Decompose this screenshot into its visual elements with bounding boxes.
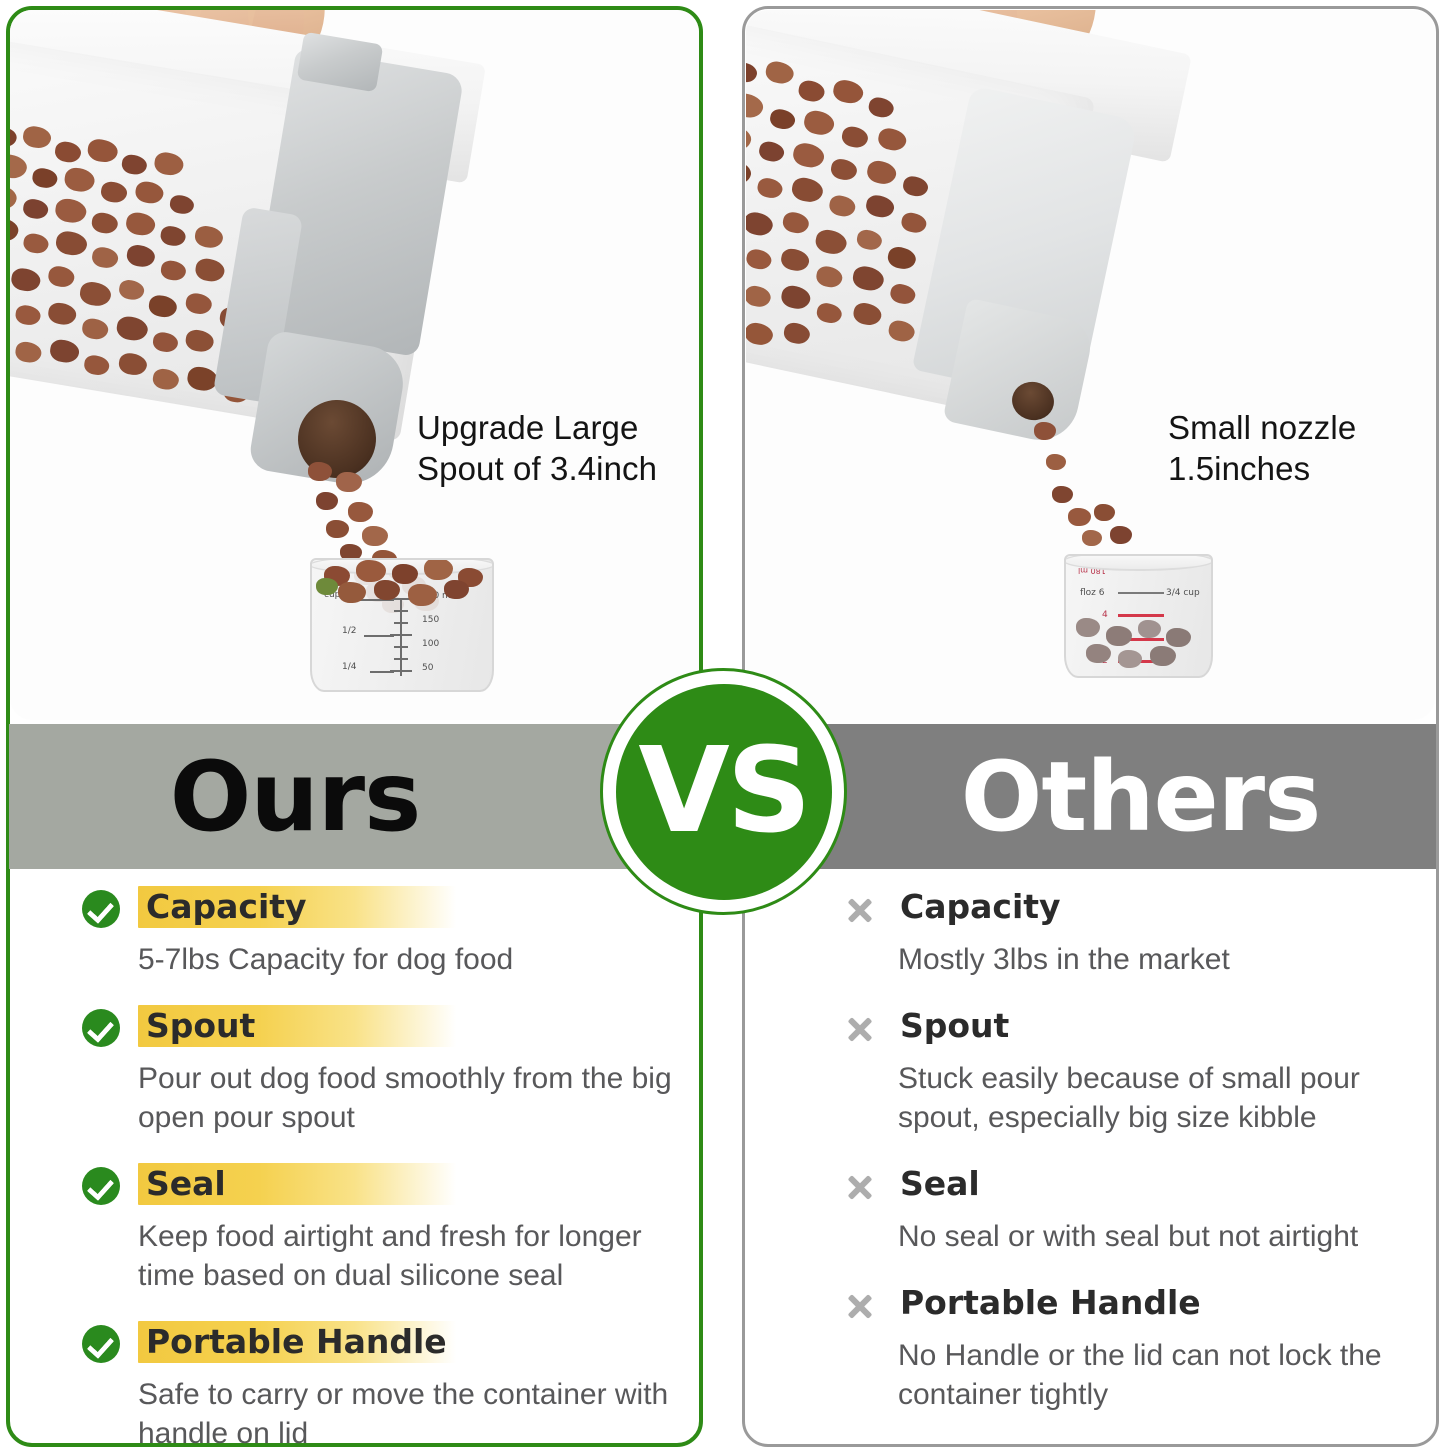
feature-title-wrap: Spout [898, 1005, 1402, 1051]
x-icon [842, 1286, 882, 1326]
feature-title-wrap: Seal [898, 1163, 1402, 1209]
ours-callout-line-2: Spout of 3.4inch [417, 449, 687, 490]
cup-mark-right-1: 150 [422, 615, 439, 625]
others-callout-line-2: 1.5inches [1168, 449, 1428, 490]
ours-scene: cup 3/4 1/2 1/4 180 ml 150 100 50 [10, 10, 699, 720]
feature-description: No seal or with seal but not airtight [898, 1217, 1402, 1256]
vs-badge: VS [600, 668, 847, 915]
cup-mark-2: 3/4 cup [1166, 588, 1200, 598]
x-icon [842, 1009, 882, 1049]
feature-title: Capacity [138, 886, 307, 928]
others-callout-line-1: Small nozzle [1168, 408, 1428, 449]
feature-description: Keep food airtight and fresh for longer … [138, 1217, 678, 1295]
measuring-cup: cup 3/4 1/2 1/4 180 ml 150 100 50 [310, 558, 494, 692]
feature-row: Seal No seal or with seal but not airtig… [842, 1163, 1402, 1256]
cup-mark-1: floz 6 [1080, 588, 1105, 598]
feature-row: Seal Keep food airtight and fresh for lo… [82, 1163, 682, 1295]
cup-mark-right-3: 50 [422, 663, 433, 673]
others-callout: Small nozzle 1.5inches [1168, 408, 1428, 490]
cup-mark-left-2: 1/4 [342, 662, 356, 672]
feature-description: Safe to carry or move the container with… [138, 1375, 678, 1453]
feature-title-wrap: Capacity [898, 886, 1402, 932]
x-icon [842, 1167, 882, 1207]
ours-callout-line-1: Upgrade Large [417, 408, 687, 449]
cup-mark-3: 4 [1102, 610, 1108, 620]
feature-title-wrap: Seal [138, 1163, 682, 1209]
feature-title-wrap: Portable Handle [138, 1321, 682, 1367]
feature-title: Portable Handle [898, 1282, 1201, 1324]
vs-label: VS [638, 731, 808, 849]
vs-badge-inner: VS [616, 684, 832, 900]
feature-title: Spout [138, 1005, 255, 1047]
measuring-cup: 180 ml floz 6 3/4 cup 4 2 [1064, 554, 1213, 678]
feature-title-wrap: Capacity [138, 886, 682, 932]
feature-title: Seal [138, 1163, 226, 1205]
feature-description: Stuck easily because of small pour spout… [898, 1059, 1402, 1137]
x-icon [842, 890, 882, 930]
feature-description: Mostly 3lbs in the market [898, 940, 1402, 979]
cup-mark-left-1: 1/2 [342, 626, 356, 636]
feature-title: Portable Handle [138, 1321, 447, 1363]
check-icon [82, 1167, 122, 1207]
feature-title-wrap: Spout [138, 1005, 682, 1051]
feature-row: Spout Stuck easily because of small pour… [842, 1005, 1402, 1137]
feature-description: 5-7lbs Capacity for dog food [138, 940, 678, 979]
feature-description: No Handle or the lid can not lock the co… [898, 1336, 1402, 1414]
feature-row: Portable Handle No Handle or the lid can… [842, 1282, 1402, 1414]
pour-spout-small [942, 298, 1095, 447]
check-icon [82, 890, 122, 930]
cup-mark-right-2: 100 [422, 639, 439, 649]
feature-row: Spout Pour out dog food smoothly from th… [82, 1005, 682, 1137]
ours-product-photo: cup 3/4 1/2 1/4 180 ml 150 100 50 [10, 10, 699, 720]
feature-row: Capacity 5-7lbs Capacity for dog food [82, 886, 682, 979]
others-product-photo: 180 ml floz 6 3/4 cup 4 2 [746, 10, 1435, 720]
feature-row: Capacity Mostly 3lbs in the market [842, 886, 1402, 979]
ours-callout: Upgrade Large Spout of 3.4inch [417, 408, 687, 490]
check-icon [82, 1325, 122, 1365]
feature-title-wrap: Portable Handle [898, 1282, 1402, 1328]
others-scene: 180 ml floz 6 3/4 cup 4 2 [746, 10, 1435, 720]
others-feature-list: Capacity Mostly 3lbs in the market Spout… [842, 886, 1402, 1414]
feature-title: Spout [898, 1005, 1009, 1047]
check-icon [82, 1009, 122, 1049]
ours-feature-list: Capacity 5-7lbs Capacity for dog food Sp… [82, 886, 682, 1453]
feature-description: Pour out dog food smoothly from the big … [138, 1059, 678, 1137]
feature-title: Capacity [898, 886, 1061, 928]
feature-title: Seal [898, 1163, 980, 1205]
feature-row: Portable Handle Safe to carry or move th… [82, 1321, 682, 1453]
